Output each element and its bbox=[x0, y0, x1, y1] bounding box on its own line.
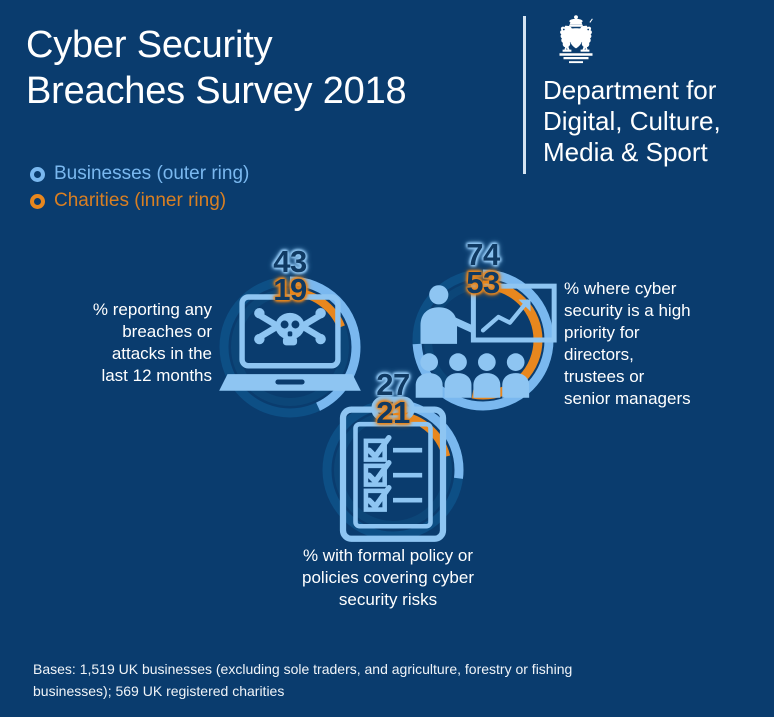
ring-icon-businesses bbox=[30, 167, 45, 182]
footer-note-line-1: Bases: 1,519 UK businesses (excluding so… bbox=[33, 658, 733, 680]
legend-label-businesses: Businesses (outer ring) bbox=[54, 164, 249, 184]
infographic-canvas: Cyber Security Breaches Survey 2018 Busi… bbox=[0, 0, 774, 717]
caption-breaches: % reporting any breaches or attacks in t… bbox=[22, 299, 212, 387]
dcms-name-line-1: Department for bbox=[543, 75, 759, 106]
caption-breaches-line-2: breaches or bbox=[22, 321, 212, 343]
footer-bases-note: Bases: 1,519 UK businesses (excluding so… bbox=[33, 658, 733, 702]
caption-breaches-line-3: attacks in the bbox=[22, 343, 212, 365]
uk-royal-coat-of-arms-icon bbox=[545, 13, 607, 71]
page-title-line-2: Breaches Survey 2018 bbox=[26, 68, 496, 114]
caption-policy-line-3: security risks bbox=[240, 589, 536, 611]
legend: Businesses (outer ring) Charities (inner… bbox=[30, 161, 249, 215]
donut-chart-policy: 27 21 bbox=[318, 395, 468, 545]
caption-priority-line-5: trustees or bbox=[564, 366, 764, 388]
page-title-line-1: Cyber Security bbox=[26, 22, 496, 68]
caption-policy: % with formal policy or policies coverin… bbox=[240, 545, 536, 611]
caption-breaches-line-1: % reporting any bbox=[22, 299, 212, 321]
logo-divider-rule bbox=[523, 16, 526, 174]
caption-priority: % where cyber security is a high priorit… bbox=[564, 278, 764, 410]
dcms-name-line-3: Media & Sport bbox=[543, 137, 759, 168]
caption-priority-line-1: % where cyber bbox=[564, 278, 764, 300]
dcms-logo: Department for Digital, Culture, Media &… bbox=[523, 13, 759, 176]
donut-chart-priority: 74 53 bbox=[408, 265, 558, 415]
footer-note-line-2: businesses); 569 UK registered charities bbox=[33, 680, 733, 702]
legend-item-charities: Charities (inner ring) bbox=[30, 188, 249, 214]
page-title: Cyber Security Breaches Survey 2018 bbox=[26, 22, 496, 114]
caption-priority-line-3: priority for bbox=[564, 322, 764, 344]
dcms-name-line-2: Digital, Culture, bbox=[543, 106, 759, 137]
caption-breaches-line-4: last 12 months bbox=[22, 365, 212, 387]
caption-policy-line-1: % with formal policy or bbox=[240, 545, 536, 567]
caption-priority-line-4: directors, bbox=[564, 344, 764, 366]
legend-label-charities: Charities (inner ring) bbox=[54, 191, 226, 211]
caption-priority-line-2: security is a high bbox=[564, 300, 764, 322]
caption-priority-line-6: senior managers bbox=[564, 388, 764, 410]
caption-policy-line-2: policies covering cyber bbox=[240, 567, 536, 589]
ring-icon-charities bbox=[30, 194, 45, 209]
legend-item-businesses: Businesses (outer ring) bbox=[30, 161, 249, 187]
dcms-department-name: Department for Digital, Culture, Media &… bbox=[543, 75, 759, 168]
